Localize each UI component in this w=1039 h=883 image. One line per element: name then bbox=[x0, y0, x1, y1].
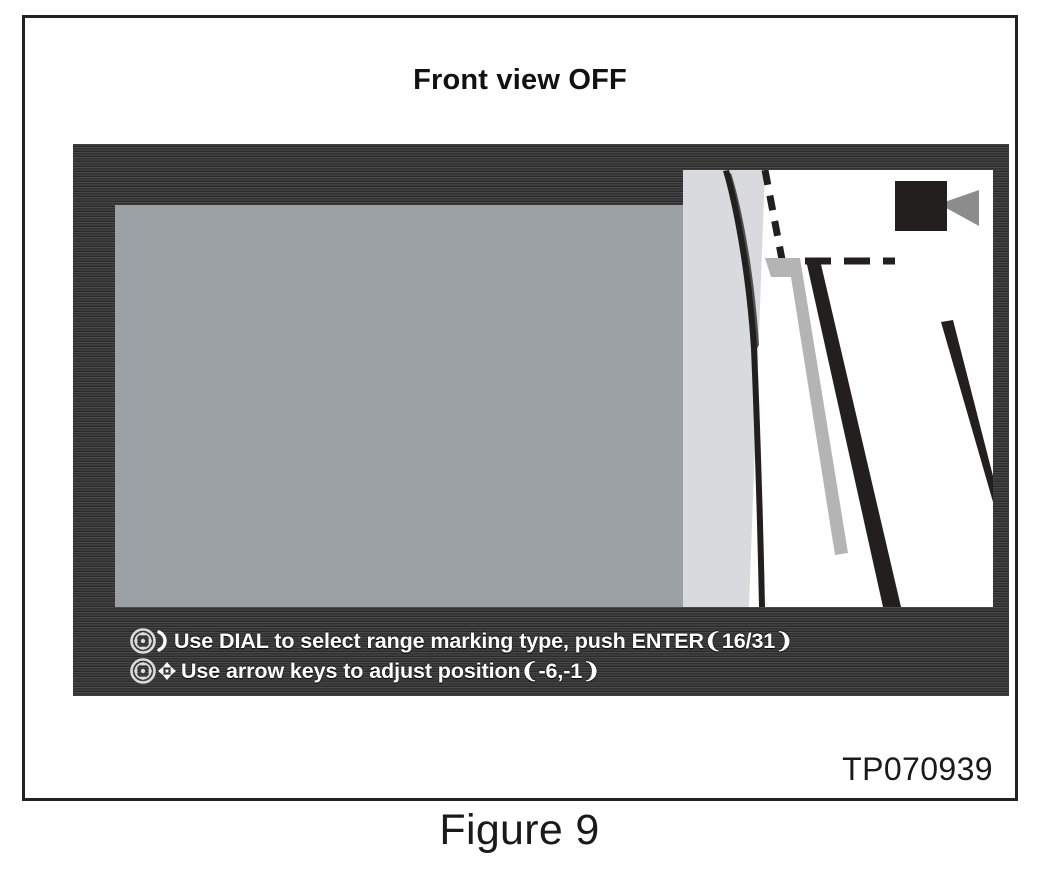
dial-icon bbox=[129, 627, 157, 655]
camera-view-graphic bbox=[683, 170, 993, 607]
osd-line-2-text: Use arrow keys to adjust position❨-6,-1❩ bbox=[181, 659, 600, 684]
osd-line-1-text: Use DIAL to select range marking type, p… bbox=[174, 629, 793, 654]
osd-line: Use DIAL to select range marking type, p… bbox=[73, 626, 1009, 656]
osd-line-1-icons bbox=[129, 627, 170, 655]
rotate-icon bbox=[157, 627, 170, 655]
osd-line: Use arrow keys to adjust position❨-6,-1❩ bbox=[73, 656, 1009, 686]
osd-line-2-icons bbox=[129, 657, 177, 685]
figure-frame: Front view OFF bbox=[22, 15, 1018, 801]
monitor-screen: Use DIAL to select range marking type, p… bbox=[73, 144, 1009, 696]
camera-view bbox=[683, 170, 993, 607]
page-title: Front view OFF bbox=[25, 64, 1015, 97]
reference-number: TP070939 bbox=[842, 751, 993, 788]
arrow-keys-icon bbox=[157, 657, 177, 685]
dial-icon bbox=[129, 657, 157, 685]
video-plate-blank bbox=[115, 205, 683, 607]
osd-instruction-bar: Use DIAL to select range marking type, p… bbox=[73, 618, 1009, 696]
figure-caption: Figure 9 bbox=[0, 806, 1039, 855]
